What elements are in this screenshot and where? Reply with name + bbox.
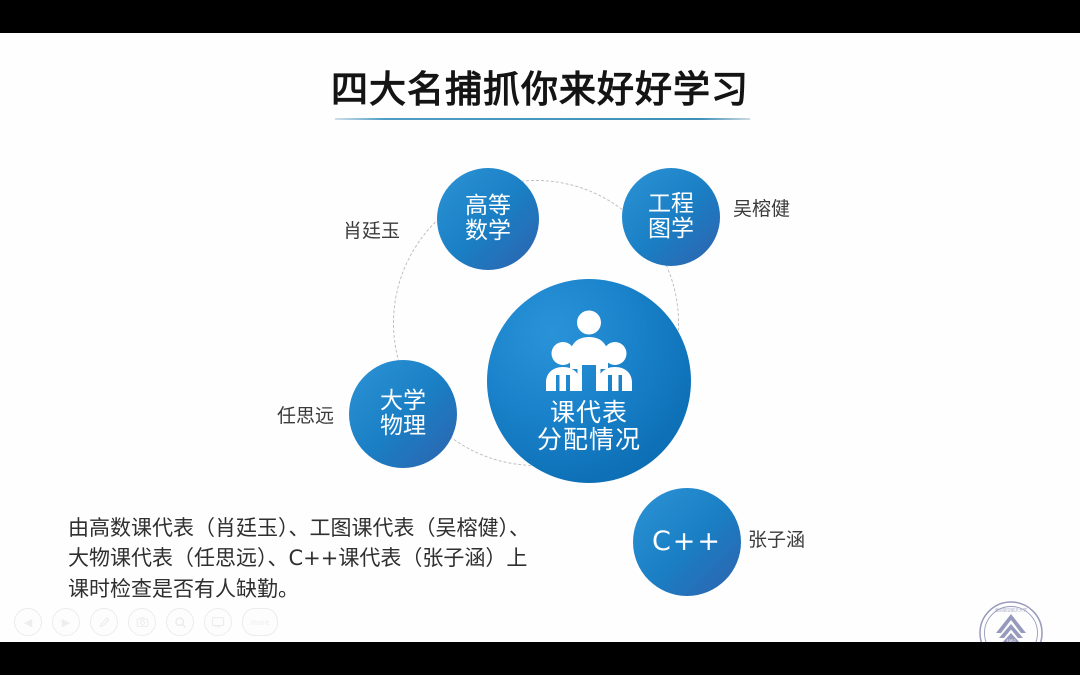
body-paragraph: 由高数课代表（肖廷玉）、工图课代表（吴榕健）、 大物课代表（任思远）、C++课代… — [68, 513, 628, 604]
more-options-button[interactable]: more — [242, 608, 278, 636]
triangle-left-icon: ◀ — [24, 616, 32, 629]
node-math-line2: 数学 — [465, 219, 511, 244]
hub-label: 课代表 分配情况 — [537, 399, 641, 453]
hub-label-line1: 课代表 — [537, 399, 641, 426]
hub-label-line2: 分配情况 — [537, 426, 641, 453]
person-label-drawing: 吴榕健 — [733, 194, 790, 221]
svg-text:南京航空航天大学: 南京航空航天大学 — [995, 607, 1027, 613]
slideshow-toolbar[interactable]: ◀ ▶ — [14, 608, 278, 636]
group-of-people-icon — [537, 309, 641, 393]
zoom-button[interactable] — [166, 608, 194, 636]
more-icon: more — [250, 618, 269, 627]
body-line-2: 大物课代表（任思远）、C++课代表（张子涵）上 — [68, 543, 628, 573]
pen-icon — [98, 616, 111, 629]
slide-viewer: 四大名捕抓你来好好学习 课代表 — [0, 0, 1080, 675]
person-label-physics: 任思远 — [277, 401, 334, 428]
node-drawing-line1: 工程 — [648, 192, 694, 217]
node-bubble-math[interactable]: 高等 数学 — [437, 168, 539, 270]
nuaa-university-seal: 1952 NUAA 南京航空航天大学 — [978, 600, 1044, 642]
node-physics-line1: 大学 — [380, 389, 426, 414]
triangle-right-icon: ▶ — [62, 616, 70, 629]
camera-icon — [136, 616, 149, 628]
body-line-1: 由高数课代表（肖廷玉）、工图课代表（吴榕健）、 — [68, 513, 628, 543]
pen-tool-button[interactable] — [90, 608, 118, 636]
letterbox-top — [0, 0, 1080, 33]
slide-canvas: 四大名捕抓你来好好学习 课代表 — [0, 33, 1080, 642]
node-bubble-physics[interactable]: 大学 物理 — [349, 360, 457, 468]
node-cpp-line1: C++ — [652, 527, 722, 556]
node-bubble-drawing[interactable]: 工程 图学 — [622, 168, 720, 266]
body-line-3: 课时检查是否有人缺勤。 — [68, 574, 628, 604]
play-slide-button[interactable]: ▶ — [52, 608, 80, 636]
previous-slide-button[interactable]: ◀ — [14, 608, 42, 636]
screen-icon — [211, 616, 225, 628]
magnifier-icon — [174, 616, 187, 629]
seal-year: 1952 — [1006, 639, 1016, 643]
node-drawing-line2: 图学 — [648, 217, 694, 242]
node-physics-line2: 物理 — [380, 414, 426, 439]
present-view-button[interactable] — [204, 608, 232, 636]
person-label-cpp: 张子涵 — [748, 525, 805, 552]
hub-bubble-course-rep[interactable]: 课代表 分配情况 — [487, 279, 691, 483]
person-label-math: 肖廷玉 — [343, 216, 400, 243]
screenshot-button[interactable] — [128, 608, 156, 636]
node-math-line1: 高等 — [465, 194, 511, 219]
node-bubble-cpp[interactable]: C++ — [633, 488, 741, 596]
letterbox-bottom — [0, 642, 1080, 675]
